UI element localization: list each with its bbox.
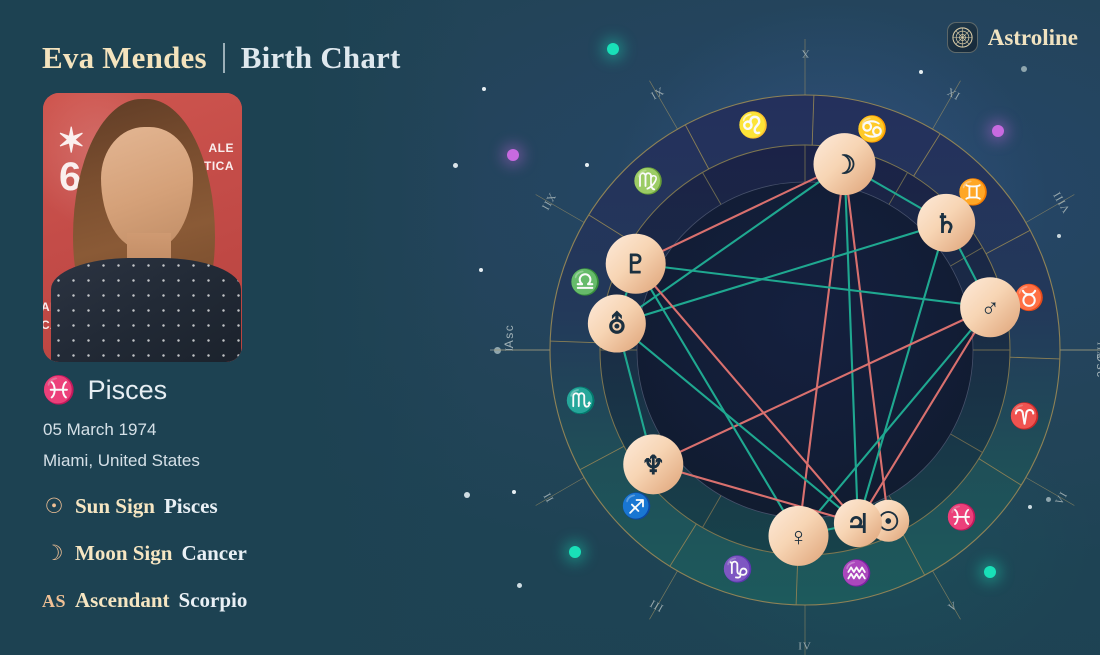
sun-sign-value: Pisces	[164, 494, 218, 519]
zodiac-glyph-libra: ♎	[569, 267, 600, 296]
zodiac-glyph-capricorn: ♑	[722, 554, 753, 583]
sun-sign-label: Sun Sign	[75, 494, 155, 519]
planet-marker-saturn[interactable]: ♄	[917, 194, 975, 252]
birth-chart-wheel[interactable]: ♌♋♊♉♈♓♒♑♐♏♎♍ XIXVIIIVIIVIVIVIIIIIIXIIXI …	[545, 90, 1065, 610]
zodiac-glyph-scorpio: ♏	[565, 386, 596, 415]
brand-logo: Astroline	[947, 22, 1078, 53]
star-dot	[482, 87, 486, 91]
person-name: Eva Mendes	[42, 40, 207, 76]
photo-face	[101, 127, 193, 249]
brand-name: Astroline	[988, 25, 1078, 51]
glow-dot	[507, 149, 519, 161]
birth-date: 05 March 1974	[43, 420, 156, 440]
zodiac-glyph-aquarius: ♒	[841, 559, 872, 588]
axis-label-asc: Asc	[502, 324, 516, 349]
glow-dot	[607, 43, 619, 55]
ascendant-value: Scorpio	[179, 588, 248, 613]
attribute-row-sun: ☉ Sun Sign Pisces	[42, 494, 218, 519]
planet-glyph-mars: ♂	[980, 294, 1000, 323]
planet-glyph-jupiter: ♃	[846, 510, 869, 539]
title-divider	[223, 43, 225, 73]
sun-sign-headline: ♓ Pisces	[42, 375, 167, 406]
photo-clothing-pattern	[51, 258, 241, 362]
planet-glyph-venus: ♀	[789, 522, 809, 551]
zodiac-glyph-pisces: ♓	[946, 503, 977, 532]
planet-glyph-uranus: ⛢	[607, 310, 626, 339]
axis-label-dsc: Dsc	[1094, 353, 1100, 378]
photo-watermark: TICA	[204, 159, 234, 173]
moon-sign-label: Moon Sign	[75, 541, 172, 566]
house-number: IV	[798, 641, 812, 653]
planet-marker-pluto[interactable]: ♇	[606, 234, 666, 294]
planet-glyph-saturn: ♄	[935, 209, 958, 238]
page-subtitle: Birth Chart	[241, 40, 401, 76]
zodiac-glyph-aries: ♈	[1009, 402, 1040, 431]
star-dot	[479, 268, 483, 272]
ascendant-label: Ascendant	[75, 588, 170, 613]
sun-sign-name: Pisces	[88, 375, 168, 406]
planet-glyph-pluto: ♇	[624, 250, 647, 279]
zodiac-glyph-virgo: ♍	[633, 166, 664, 195]
attribute-row-ascendant: AS Ascendant Scorpio	[42, 588, 247, 613]
star-dot	[1021, 66, 1027, 72]
birth-place: Miami, United States	[43, 451, 200, 471]
moon-icon: ☽	[42, 543, 66, 564]
planet-marker-mars[interactable]: ♂	[960, 277, 1020, 337]
pisces-icon: ♓	[42, 377, 76, 404]
star-dot	[517, 583, 522, 588]
profile-panel: Eva Mendes Birth Chart ✶ 6 ALE TICA ALE …	[0, 0, 470, 655]
zodiac-glyph-sagittarius: ♐	[621, 491, 652, 520]
chart-svg[interactable]: ♌♋♊♉♈♓♒♑♐♏♎♍ XIXVIIIVIIVIVIVIIIIIIXIIXI …	[545, 90, 1065, 610]
ascendant-icon: AS	[42, 592, 66, 610]
planet-marker-neptune[interactable]: ♆	[623, 434, 683, 494]
star-dot	[512, 490, 516, 494]
attribute-row-moon: ☽ Moon Sign Cancer	[42, 541, 247, 566]
person-photo: ✶ 6 ALE TICA ALE CA	[43, 93, 242, 362]
star-dot	[919, 70, 923, 74]
planet-marker-jupiter[interactable]: ♃	[834, 499, 882, 547]
screenshot-root: Astroline Eva Mendes Birth Chart ✶ 6 ALE…	[0, 0, 1100, 655]
planet-glyph-moon: ☽	[833, 151, 856, 180]
planet-marker-moon[interactable]: ☽	[814, 133, 876, 195]
moon-sign-value: Cancer	[181, 541, 246, 566]
planet-marker-venus[interactable]: ♀	[769, 506, 829, 566]
sun-icon: ☉	[42, 496, 66, 517]
planet-glyph-neptune: ♆	[642, 451, 665, 480]
planet-marker-uranus[interactable]: ⛢	[588, 295, 646, 353]
zodiac-glyph-leo: ♌	[738, 110, 769, 139]
astrolabe-icon	[947, 22, 978, 53]
house-number: X	[801, 47, 810, 59]
photo-watermark: ALE	[209, 141, 235, 155]
page-title: Eva Mendes Birth Chart	[42, 40, 401, 76]
